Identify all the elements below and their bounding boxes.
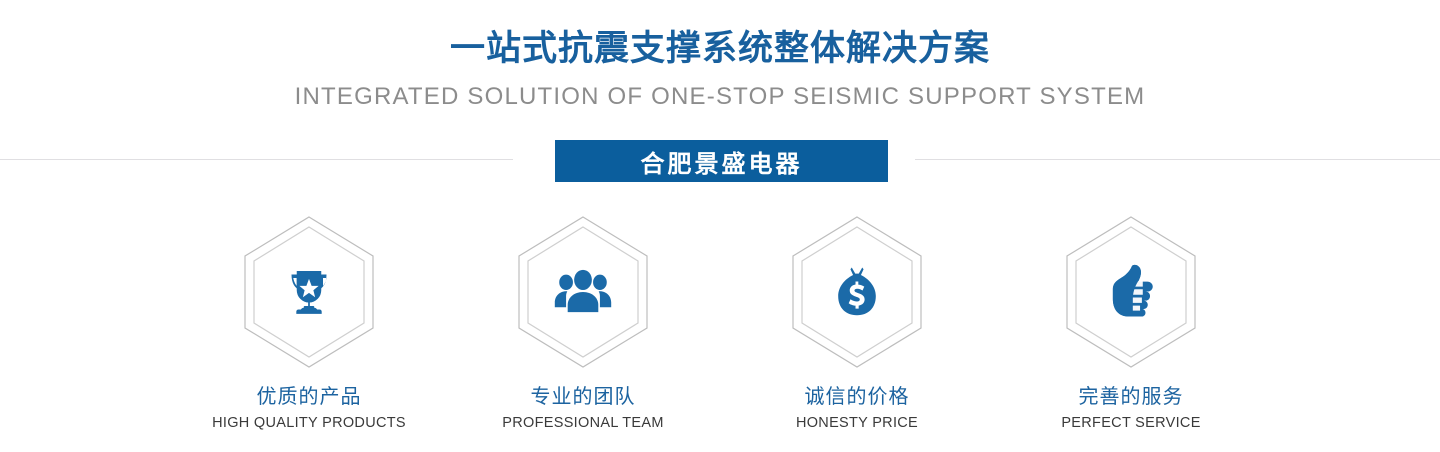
hexagon-frame [787, 214, 927, 370]
feature-item-team[interactable]: 专业的团队 PROFESSIONAL TEAM [446, 214, 720, 434]
page-title: 一站式抗震支撑系统整体解决方案 [0, 26, 1440, 72]
feature-label-cn: 优质的产品 [257, 384, 362, 410]
feature-label-en: PERFECT SERVICE [1061, 413, 1200, 433]
feature-item-price[interactable]: 诚信的价格 HONESTY PRICE [720, 214, 994, 434]
hexagon-frame [239, 214, 379, 370]
team-people-icon [513, 214, 653, 370]
seismic-support-banner-page: 一站式抗震支撑系统整体解决方案 INTEGRATED SOLUTION OF O… [0, 0, 1440, 452]
feature-label-en: PROFESSIONAL TEAM [502, 413, 663, 433]
thumbs-up-icon [1061, 214, 1201, 370]
feature-item-quality[interactable]: 优质的产品 HIGH QUALITY PRODUCTS [172, 214, 446, 434]
trophy-icon [239, 214, 379, 370]
hexagon-frame [1061, 214, 1201, 370]
page-subtitle: INTEGRATED SOLUTION OF ONE-STOP SEISMIC … [0, 82, 1440, 112]
money-bag-icon [787, 214, 927, 370]
hexagon-frame [513, 214, 653, 370]
brand-divider-row: 合肥景盛电器 [0, 140, 1440, 182]
feature-item-service[interactable]: 完善的服务 PERFECT SERVICE [994, 214, 1268, 434]
divider-left [0, 159, 513, 160]
feature-label-en: HIGH QUALITY PRODUCTS [212, 413, 406, 433]
page-heading: 一站式抗震支撑系统整体解决方案 INTEGRATED SOLUTION OF O… [0, 26, 1440, 112]
feature-label-cn: 完善的服务 [1079, 384, 1184, 410]
feature-label-cn: 专业的团队 [531, 384, 636, 410]
feature-list: 优质的产品 HIGH QUALITY PRODUCTS [172, 214, 1268, 434]
feature-label-cn: 诚信的价格 [805, 384, 910, 410]
brand-banner: 合肥景盛电器 [555, 140, 888, 182]
divider-right [915, 159, 1440, 160]
feature-label-en: HONESTY PRICE [796, 413, 918, 433]
